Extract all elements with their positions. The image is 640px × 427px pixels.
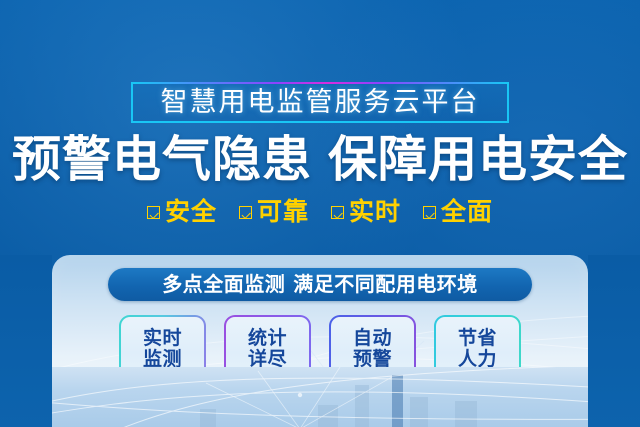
checkbox-checked-icon (423, 206, 436, 219)
checkbox-checked-icon (239, 206, 252, 219)
right-blue-edge (588, 255, 640, 427)
checkbox-checked-icon (147, 206, 160, 219)
title-badge: 智慧用电监管服务云平台 (131, 82, 509, 123)
subtitle-pill-label: 多点全面监测满足不同配用电环境 (162, 275, 478, 295)
check-label: 实时 (349, 200, 401, 225)
headline-part-left: 预警电气隐患 (12, 133, 312, 187)
feature-card-line1: 实时 (143, 328, 182, 349)
pill-text-left: 多点全面监测 (162, 274, 285, 296)
check-item-quanmian: 全面 (423, 200, 493, 225)
check-label: 安全 (165, 200, 217, 225)
check-list: 安全 可靠 实时 全面 (0, 200, 640, 225)
subtitle-pill: 多点全面监测满足不同配用电环境 (108, 268, 532, 301)
check-label: 可靠 (257, 200, 309, 225)
check-item-kekao: 可靠 (239, 200, 309, 225)
title-badge-label: 智慧用电监管服务云平台 (161, 89, 480, 116)
page-title: 预警电气隐患保障用电安全 (0, 136, 640, 185)
check-item-shishi: 实时 (331, 200, 401, 225)
check-label: 全面 (441, 200, 493, 225)
feature-card-line1: 统计 (248, 328, 287, 349)
feature-card-line1: 自动 (353, 328, 392, 349)
headline-part-right: 保障用电安全 (328, 133, 628, 187)
promo-poster: 智慧用电监管服务云平台 预警电气隐患保障用电安全 安全 可靠 实时 全面 (0, 0, 640, 427)
check-item-anquan: 安全 (147, 200, 217, 225)
checkbox-checked-icon (331, 206, 344, 219)
pill-text-right: 满足不同配用电环境 (293, 274, 478, 296)
cityscape-strip (0, 367, 640, 427)
left-blue-edge (0, 255, 52, 427)
feature-card-line1: 节省 (458, 328, 497, 349)
network-arcs-decoration (0, 367, 640, 427)
